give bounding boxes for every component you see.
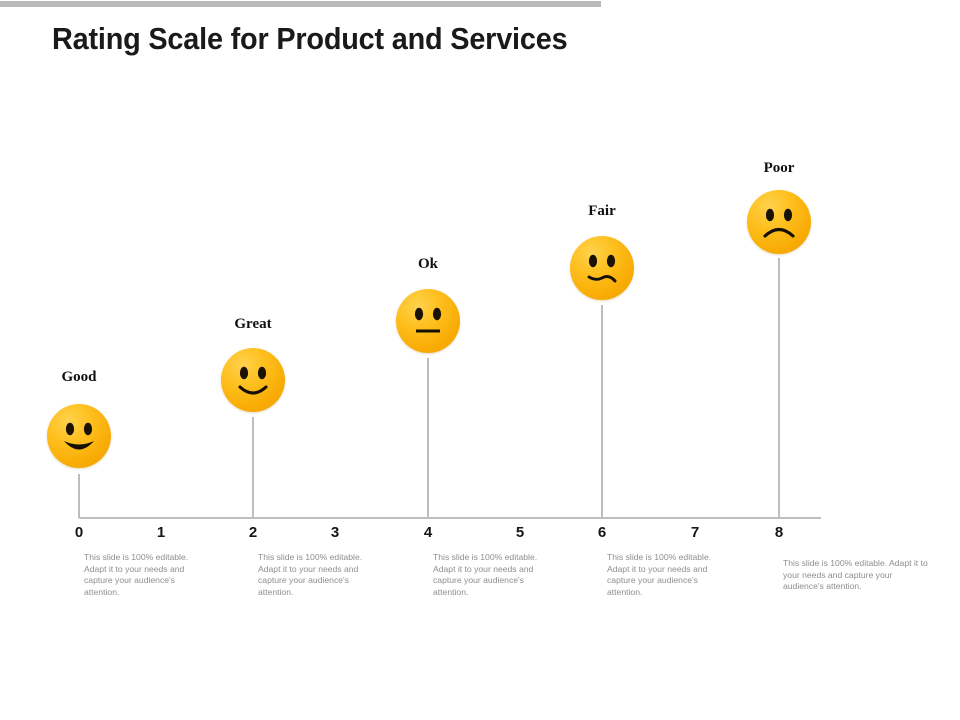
sad-frown-icon xyxy=(747,190,811,254)
note-ok: This slide is 100% editable. Adapt it to… xyxy=(433,552,558,598)
rating-scale-chart: 0 1 2 3 4 5 6 7 8 Good Great Ok xyxy=(0,0,960,720)
stem-ok xyxy=(427,358,429,518)
rating-label-poor: Poor xyxy=(719,160,839,177)
rating-label-ok: Ok xyxy=(368,256,488,273)
axis-tick-8: 8 xyxy=(766,524,792,541)
rating-label-fair: Fair xyxy=(542,203,662,220)
stem-good xyxy=(78,474,80,518)
smiley-face-great[interactable] xyxy=(221,348,285,412)
neutral-face-icon xyxy=(396,289,460,353)
note-great: This slide is 100% editable. Adapt it to… xyxy=(258,552,383,598)
rating-label-good: Good xyxy=(19,369,139,386)
axis-tick-1: 1 xyxy=(148,524,174,541)
axis-baseline xyxy=(79,517,821,519)
axis-tick-5: 5 xyxy=(507,524,533,541)
smiley-face-poor[interactable] xyxy=(747,190,811,254)
axis-tick-2: 2 xyxy=(240,524,266,541)
happy-open-smile-icon xyxy=(47,404,111,468)
axis-tick-3: 3 xyxy=(322,524,348,541)
smiley-face-fair[interactable] xyxy=(570,236,634,300)
rating-label-great: Great xyxy=(193,316,313,333)
smiley-face-ok[interactable] xyxy=(396,289,460,353)
note-poor: This slide is 100% editable. Adapt it to… xyxy=(783,558,935,593)
stem-fair xyxy=(601,305,603,518)
axis-tick-6: 6 xyxy=(589,524,615,541)
smiling-icon xyxy=(221,348,285,412)
axis-tick-0: 0 xyxy=(66,524,92,541)
note-fair: This slide is 100% editable. Adapt it to… xyxy=(607,552,732,598)
note-good: This slide is 100% editable. Adapt it to… xyxy=(84,552,209,598)
smiley-face-good[interactable] xyxy=(47,404,111,468)
axis-tick-4: 4 xyxy=(415,524,441,541)
stem-great xyxy=(252,417,254,518)
confused-face-icon xyxy=(570,236,634,300)
stem-poor xyxy=(778,258,780,518)
slide-canvas: Rating Scale for Product and Services 0 … xyxy=(0,0,960,720)
axis-tick-7: 7 xyxy=(682,524,708,541)
